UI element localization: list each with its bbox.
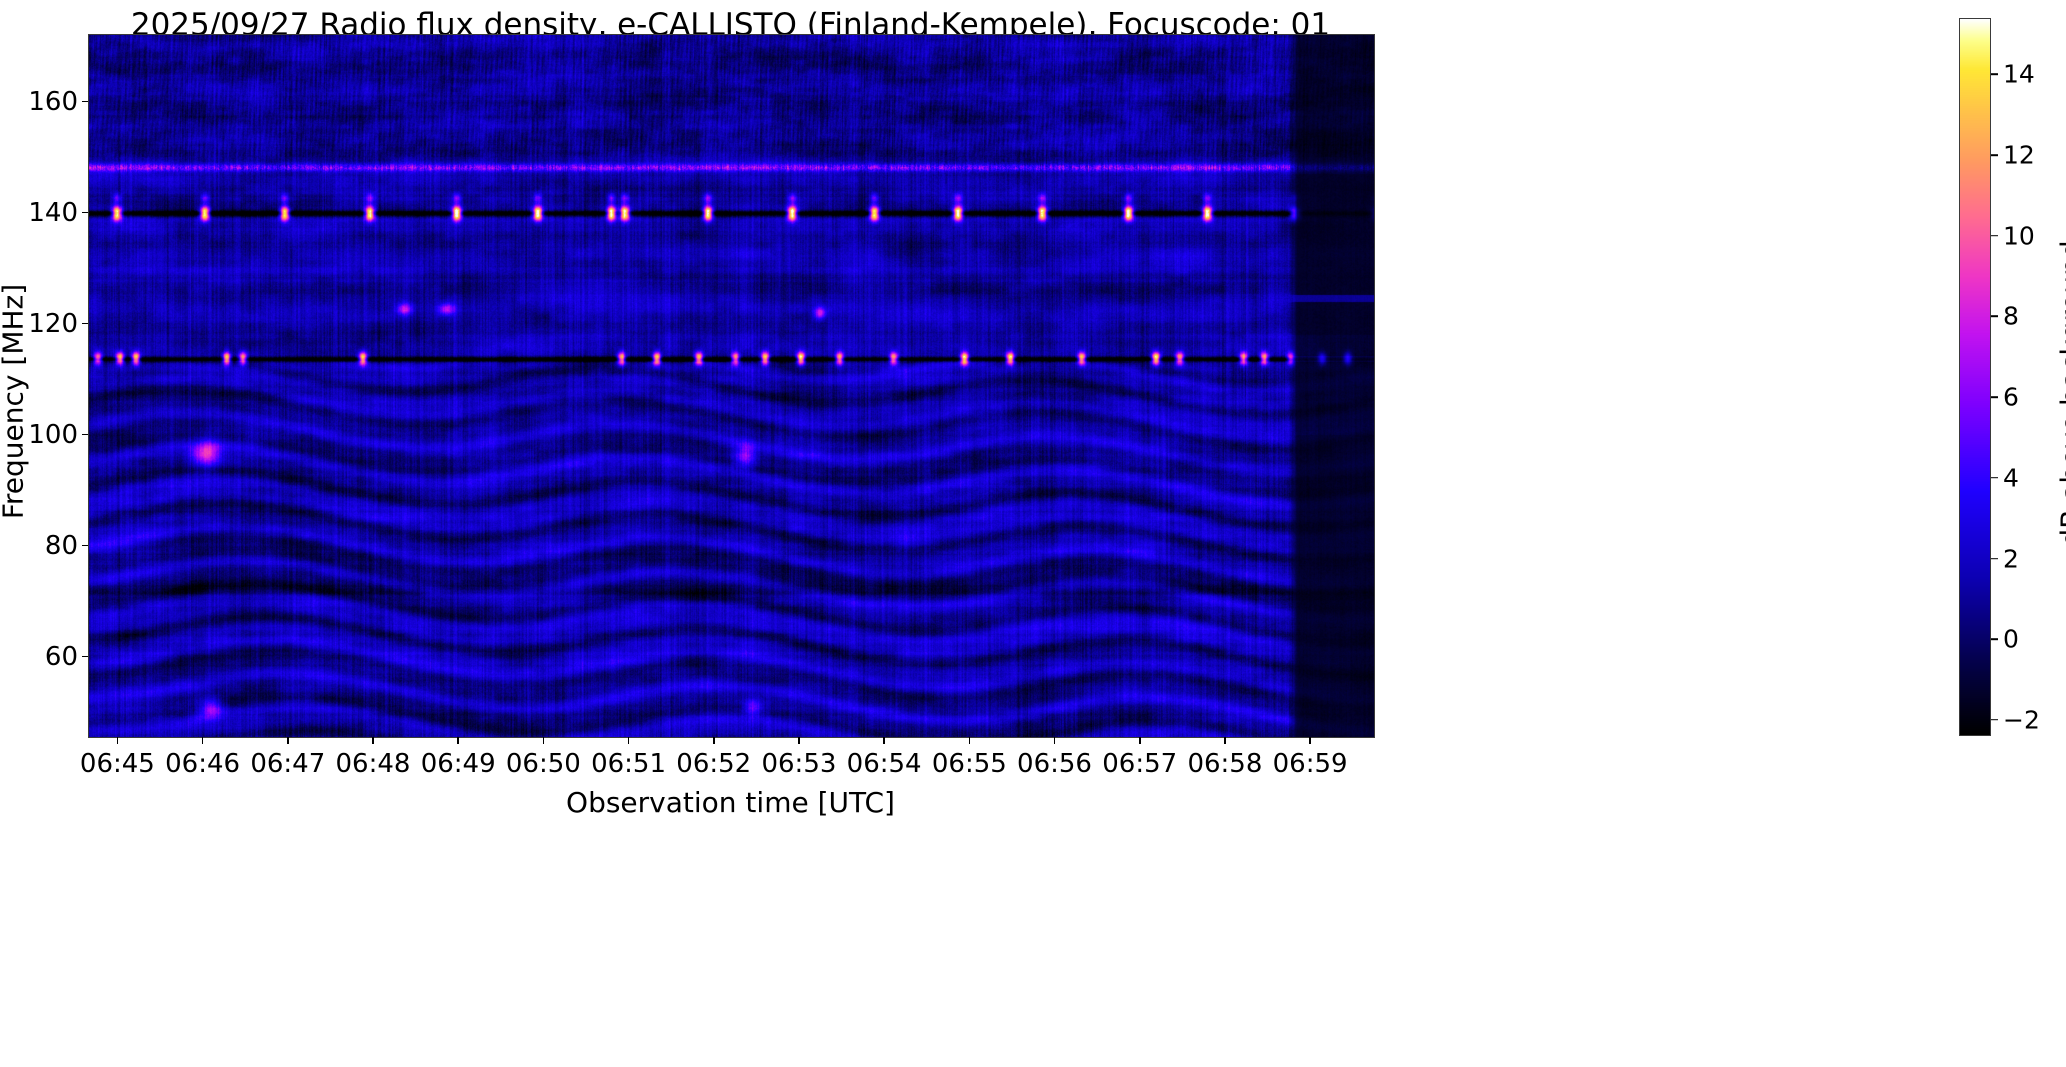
colorbar-tick-2 (1991, 558, 1998, 560)
x-tick-06-58 (1224, 737, 1226, 744)
x-tick-06-47 (287, 737, 289, 744)
colorbar-tick-label-8: 8 (2003, 302, 2019, 331)
x-tick-label-06-57: 06:57 (1102, 749, 1177, 779)
spectrogram-plot-area[interactable] (88, 34, 1375, 738)
x-tick-06-45 (117, 737, 119, 744)
x-tick-06-48 (372, 737, 374, 744)
colorbar-tick--2 (1991, 719, 1998, 721)
colorbar-tick-6 (1991, 396, 1998, 398)
colorbar-tick-label-14: 14 (2003, 60, 2035, 89)
x-tick-06-56 (1054, 737, 1056, 744)
x-tick-label-06-51: 06:51 (591, 749, 666, 779)
colorbar-tick-12 (1991, 154, 1998, 156)
y-tick-160 (82, 101, 88, 103)
x-tick-06-53 (798, 737, 800, 744)
x-tick-label-06-46: 06:46 (165, 749, 240, 779)
x-tick-06-46 (202, 737, 204, 744)
x-tick-06-54 (883, 737, 885, 744)
x-axis-tick-labels: 06:4506:4606:4706:4806:4906:5006:5106:52… (0, 749, 2066, 789)
x-tick-label-06-53: 06:53 (761, 749, 836, 779)
colorbar-tick-10 (1991, 235, 1998, 237)
colorbar-tick-label--2: −2 (2003, 705, 2040, 734)
colorbar-tick-label-2: 2 (2003, 544, 2019, 573)
x-tick-label-06-48: 06:48 (336, 749, 411, 779)
x-tick-06-51 (628, 737, 630, 744)
x-tick-06-50 (543, 737, 545, 744)
colorbar (1959, 18, 1991, 736)
x-tick-label-06-52: 06:52 (676, 749, 751, 779)
spectrogram-figure: 2025/09/27 Radio flux density, e-CALLIST… (0, 0, 2066, 1067)
colorbar-tick-14 (1991, 74, 1998, 76)
x-tick-label-06-55: 06:55 (932, 749, 1007, 779)
colorbar-gradient (1959, 18, 1991, 736)
spectrogram-canvas[interactable] (89, 35, 1374, 737)
colorbar-tick-label-6: 6 (2003, 383, 2019, 412)
x-axis-ticks (0, 737, 2066, 747)
x-tick-06-59 (1309, 737, 1311, 744)
x-tick-label-06-47: 06:47 (250, 749, 325, 779)
x-tick-06-57 (1139, 737, 1141, 744)
x-tick-label-06-54: 06:54 (847, 749, 922, 779)
y-axis-label: Frequency [MHz] (0, 51, 30, 753)
colorbar-tick-0 (1991, 638, 1998, 640)
x-tick-label-06-56: 06:56 (1017, 749, 1092, 779)
x-tick-label-06-50: 06:50 (506, 749, 581, 779)
y-tick-120 (82, 323, 88, 325)
colorbar-label: dB above background (2055, 35, 2066, 753)
x-tick-06-52 (713, 737, 715, 744)
x-tick-06-49 (457, 737, 459, 744)
colorbar-tick-label-4: 4 (2003, 463, 2019, 492)
x-tick-label-06-49: 06:49 (421, 749, 496, 779)
x-tick-06-55 (969, 737, 971, 744)
colorbar-tick-8 (1991, 316, 1998, 318)
colorbar-tick-label-10: 10 (2003, 221, 2035, 250)
x-axis-label: Observation time [UTC] (88, 786, 1373, 819)
y-tick-80 (82, 545, 88, 547)
x-tick-label-06-58: 06:58 (1187, 749, 1262, 779)
colorbar-tick-label-0: 0 (2003, 625, 2019, 654)
x-tick-label-06-59: 06:59 (1273, 749, 1348, 779)
y-tick-60 (82, 656, 88, 658)
y-tick-140 (82, 212, 88, 214)
x-tick-label-06-45: 06:45 (80, 749, 155, 779)
colorbar-tick-label-12: 12 (2003, 141, 2035, 170)
colorbar-tick-4 (1991, 477, 1998, 479)
y-tick-100 (82, 434, 88, 436)
